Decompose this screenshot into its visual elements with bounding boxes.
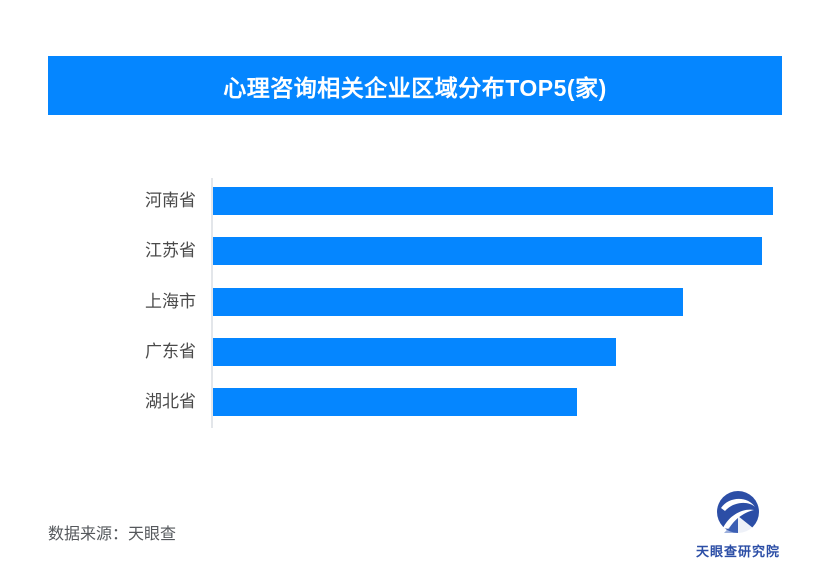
- brand-name-label: 天眼查研究院: [696, 541, 780, 560]
- brand-logo: 天眼查研究院: [686, 488, 790, 560]
- bar-row: 上海市: [48, 288, 782, 316]
- chart-title-band: 心理咨询相关企业区域分布TOP5(家): [48, 56, 782, 115]
- bar-fill-2: [213, 288, 683, 316]
- bar-row: 江苏省: [48, 237, 782, 265]
- bar-fill-4: [213, 388, 577, 416]
- bar-fill-0: [213, 187, 773, 215]
- bar-row: 湖北省: [48, 388, 782, 416]
- tianyancha-eye-logo-icon: [712, 488, 764, 540]
- infographic-canvas: 心理咨询相关企业区域分布TOP5(家) 河南省 江苏省 上海市: [0, 0, 832, 578]
- data-source-note: 数据来源：天眼查: [48, 520, 176, 544]
- bar-row: 广东省: [48, 338, 782, 366]
- category-label-3: 广东省: [48, 338, 196, 366]
- bar-series: 河南省 江苏省 上海市 广东省: [48, 160, 782, 445]
- category-label-2: 上海市: [48, 288, 196, 316]
- category-label-4: 湖北省: [48, 388, 196, 416]
- bar-fill-1: [213, 237, 762, 265]
- bar-row: 河南省: [48, 187, 782, 215]
- bar-chart: 河南省 江苏省 上海市 广东省: [48, 160, 782, 445]
- category-label-0: 河南省: [48, 187, 196, 215]
- bar-track-4: [213, 388, 773, 416]
- bar-fill-3: [213, 338, 616, 366]
- category-label-1: 江苏省: [48, 237, 196, 265]
- bar-track-3: [213, 338, 773, 366]
- bar-track-2: [213, 288, 773, 316]
- page-title: 心理咨询相关企业区域分布TOP5(家): [223, 69, 606, 103]
- bar-track-0: [213, 187, 773, 215]
- bar-track-1: [213, 237, 773, 265]
